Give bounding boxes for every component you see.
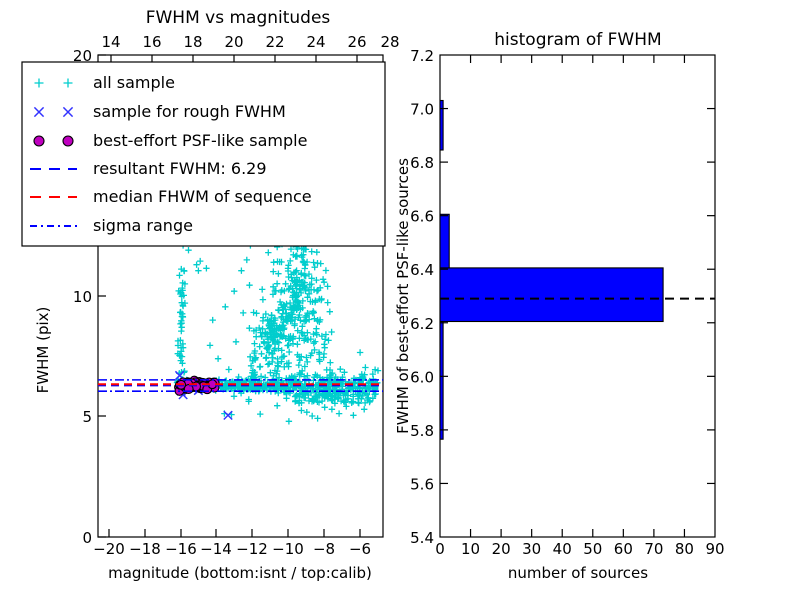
right-x-tick-label: 70 [644, 540, 663, 558]
top-tick-label: 14 [101, 33, 120, 51]
right-y-tick-label: 5.8 [410, 422, 434, 440]
top-tick-label: 18 [183, 33, 202, 51]
right-x-tick-label: 90 [705, 540, 724, 558]
top-tick-label: 28 [380, 33, 399, 51]
right-x-tick-label: 60 [614, 540, 633, 558]
y-tick-label: 10 [73, 288, 92, 306]
right-y-tick-label: 5.6 [410, 475, 434, 493]
left-panel-xlabel: magnitude (bottom:isnt / top:calib) [108, 564, 372, 582]
right-x-tick-label: 0 [435, 540, 445, 558]
right-x-tick-label: 10 [461, 540, 480, 558]
right-panel-x-tick-labels: 0102030405060708090 [435, 540, 724, 558]
right-x-tick-label: 80 [675, 540, 694, 558]
right-x-tick-label: 30 [522, 540, 541, 558]
bottom-tick-label: −6 [349, 540, 371, 558]
legend-item-label: all sample [93, 73, 175, 92]
top-tick-label: 26 [347, 33, 366, 51]
right-x-tick-label: 40 [553, 540, 572, 558]
right-panel-y-tick-labels: 5.45.65.86.06.26.46.66.87.07.2 [410, 47, 434, 547]
legend-item-label: resultant FWHM: 6.29 [93, 159, 267, 178]
right-panel-ylabel: FWHM of best-effort PSF-like sources [394, 158, 412, 434]
right-y-tick-label: 7.2 [410, 47, 434, 65]
bottom-tick-label: −20 [93, 540, 125, 558]
left-panel-bottom-tick-labels: −20 −18 −16 −14 −12 −10 −8 −6 [93, 540, 371, 558]
right-panel: histogram of FWHM 0102030405060708090 5.… [394, 30, 725, 582]
right-y-tick-label: 6.8 [410, 154, 434, 172]
bottom-tick-label: −14 [200, 540, 232, 558]
plot-svg: FWHM vs magnitudes 14 16 18 20 22 24 26 … [0, 0, 800, 600]
top-tick-label: 20 [224, 33, 243, 51]
right-panel-xlabel: number of sources [508, 564, 648, 582]
right-y-tick-label: 6.6 [410, 208, 434, 226]
bottom-tick-label: −16 [165, 540, 197, 558]
right-y-tick-label: 6.0 [410, 368, 434, 386]
legend-box [22, 62, 385, 246]
figure-canvas: FWHM vs magnitudes 14 16 18 20 22 24 26 … [0, 0, 800, 600]
legend-item-label: sigma range [93, 216, 193, 235]
right-y-tick-label: 7.0 [410, 101, 434, 119]
bottom-tick-label: −18 [129, 540, 161, 558]
top-tick-label: 22 [265, 33, 284, 51]
top-tick-label: 24 [306, 33, 325, 51]
y-tick-label: 5 [82, 408, 92, 426]
left-panel-top-tick-labels: 14 16 18 20 22 24 26 28 [101, 33, 399, 51]
left-panel-ylabel: FWHM (pix) [34, 307, 52, 394]
histogram-bars [440, 101, 663, 440]
legend-item-label: sample for rough FWHM [93, 102, 286, 121]
right-x-tick-label: 20 [492, 540, 511, 558]
right-y-tick-label: 6.4 [410, 261, 434, 279]
bottom-tick-label: −10 [272, 540, 304, 558]
right-x-tick-label: 50 [583, 540, 602, 558]
bottom-tick-label: −12 [236, 540, 268, 558]
legend-item-label: median FHWM of sequence [93, 187, 312, 206]
y-tick-label: 0 [82, 529, 92, 547]
right-y-tick-label: 5.4 [410, 529, 434, 547]
top-tick-label: 16 [142, 33, 161, 51]
legend-item-label: best-effort PSF-like sample [93, 131, 307, 150]
left-panel-bottom-ticks [109, 529, 360, 537]
right-panel-title: histogram of FWHM [494, 30, 661, 50]
left-panel-title: FWHM vs magnitudes [146, 8, 331, 28]
bottom-tick-label: −8 [313, 540, 335, 558]
right-y-tick-label: 6.2 [410, 315, 434, 333]
legend: all samplesample for rough FWHMbest-effo… [22, 62, 385, 246]
